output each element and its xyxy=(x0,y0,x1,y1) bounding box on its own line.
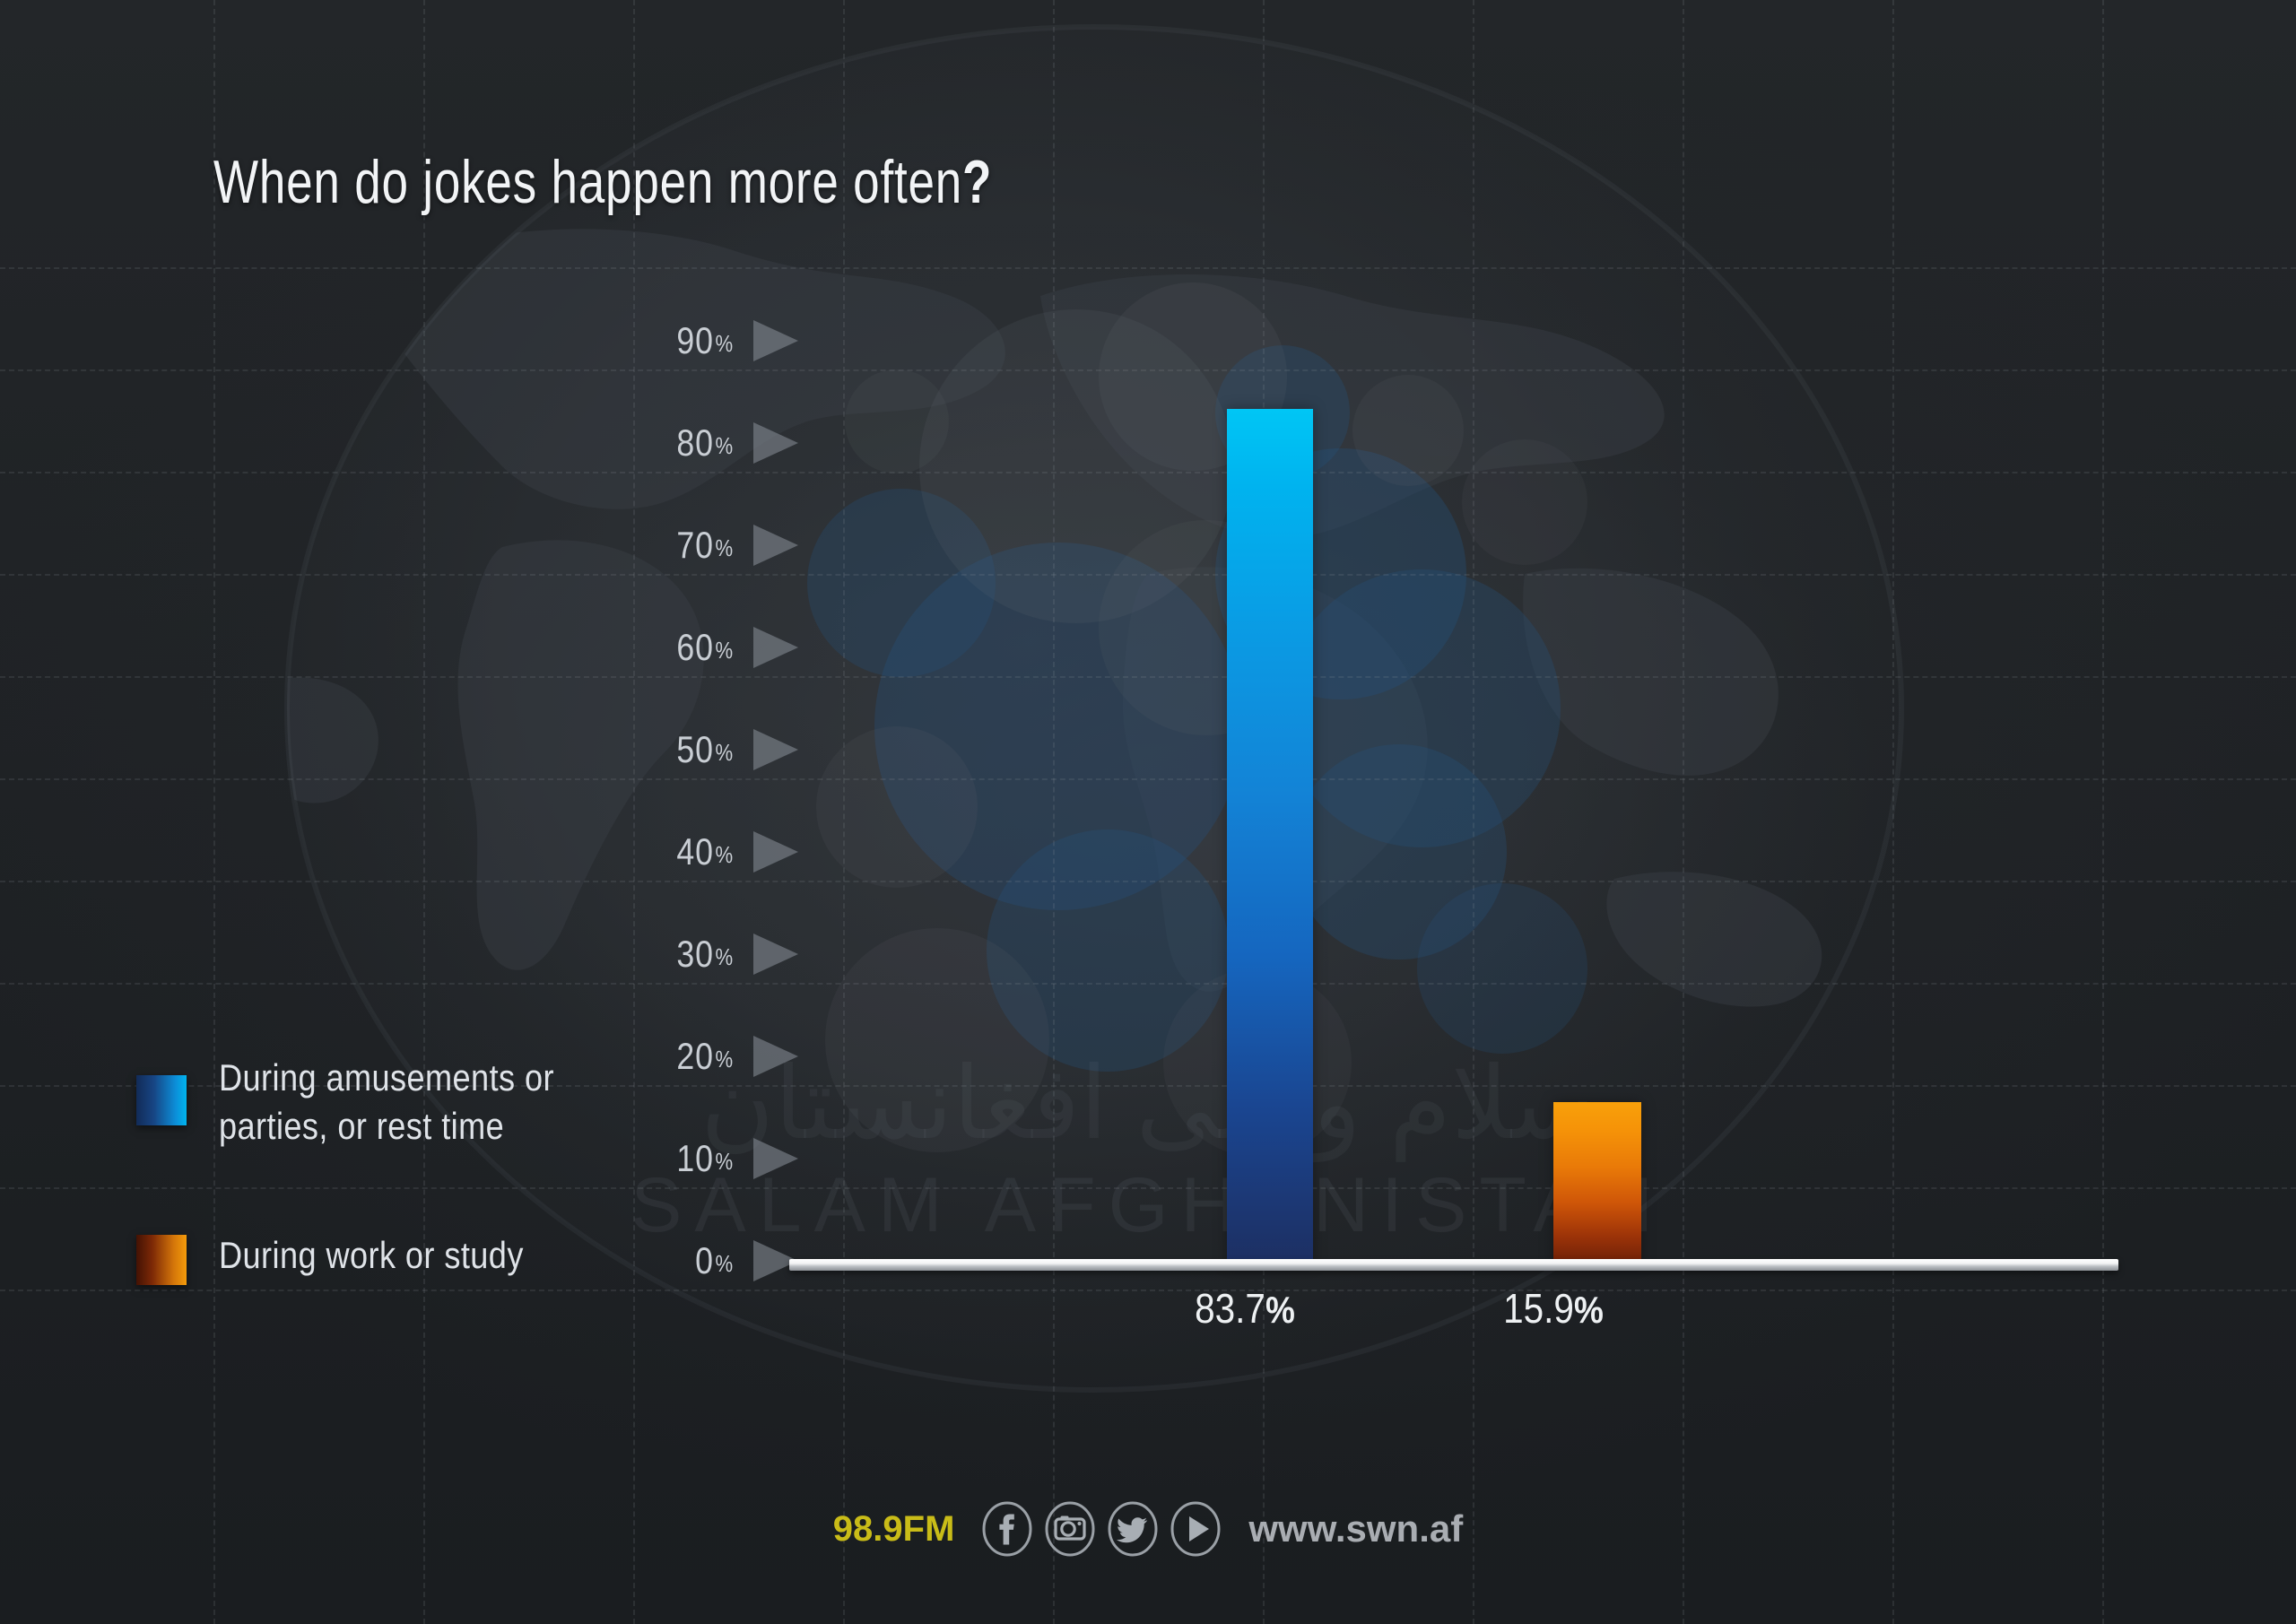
infographic-canvas: سلام وعلی افغانستان SALAM AFGHANISTAN Wh… xyxy=(0,0,2296,1624)
y-axis: 90% 80% 70% 60% 50% 40% 30% 20% xyxy=(628,341,807,1264)
legend-item-work-study[interactable]: During work or study xyxy=(136,1231,573,1285)
y-tick-label: 90% xyxy=(644,319,734,362)
radio-frequency-label: 98.9FM xyxy=(833,1509,955,1550)
legend-label: During work or study xyxy=(219,1231,524,1280)
bar-value-blue: 83.7% xyxy=(1166,1284,1324,1333)
y-tick-label: 70% xyxy=(644,524,734,567)
plot-area xyxy=(789,341,2126,1264)
y-tick-label: 40% xyxy=(644,830,734,873)
page-title-suffix: ? xyxy=(962,148,992,216)
y-tick-label: 0% xyxy=(644,1239,734,1282)
bar-value-orange: 15.9% xyxy=(1474,1284,1632,1333)
page-title: When do jokes happen more often? xyxy=(213,151,992,214)
twitter-icon[interactable] xyxy=(1106,1499,1160,1559)
x-axis-baseline xyxy=(789,1259,2118,1271)
bar-blue[interactable] xyxy=(1227,409,1313,1264)
legend-item-amusements[interactable]: During amusements or parties, or rest ti… xyxy=(136,1054,609,1151)
y-tick-label: 30% xyxy=(644,933,734,976)
y-tick-label: 60% xyxy=(644,626,734,669)
legend-swatch-blue xyxy=(136,1075,187,1125)
y-tick-label: 50% xyxy=(644,728,734,771)
y-tick-label: 20% xyxy=(644,1035,734,1078)
footer-branding: 98.9FM xyxy=(0,1499,2296,1559)
legend-label: During amusements or parties, or rest ti… xyxy=(219,1054,554,1151)
instagram-icon[interactable] xyxy=(1043,1499,1097,1559)
facebook-icon[interactable] xyxy=(980,1499,1034,1559)
legend-swatch-orange xyxy=(136,1235,187,1285)
website-url: www.swn.af xyxy=(1248,1507,1463,1550)
y-tick-label: 10% xyxy=(644,1137,734,1180)
youtube-play-icon[interactable] xyxy=(1169,1499,1222,1559)
y-tick-label: 80% xyxy=(644,421,734,465)
bar-orange[interactable] xyxy=(1553,1102,1641,1264)
page-title-main: When do jokes happen more often xyxy=(213,148,962,216)
